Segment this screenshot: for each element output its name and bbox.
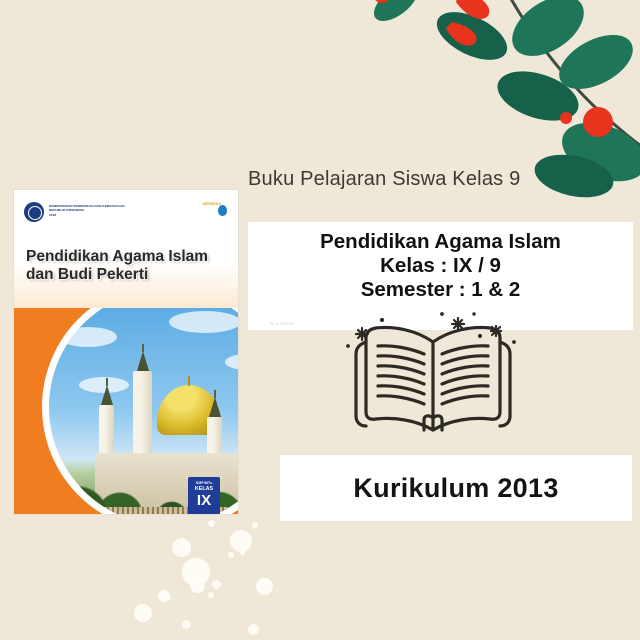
main-info-line-3: Semester : 1 & 2: [361, 278, 521, 302]
cover-title-line-2: dan Budi Pekerti: [26, 266, 228, 284]
curriculum-panel: Kurikulum 2013: [280, 455, 632, 521]
main-info-line-2: Kelas : IX / 9: [380, 254, 501, 278]
open-book-icon: [338, 312, 528, 440]
curriculum-text: Kurikulum 2013: [353, 473, 558, 504]
cover-ministry-header: KEMENTERIAN PENDIDIKAN DAN KEBUDAYAAN RE…: [24, 202, 125, 222]
ministry-text-block: KEMENTERIAN PENDIDIKAN DAN KEBUDAYAAN RE…: [49, 202, 125, 217]
grade-badge: SMP/MTs KELAS IX: [188, 477, 220, 514]
cover-title-line-1: Pendidikan Agama Islam: [26, 248, 228, 266]
kicker-heading: Buku Pelajaran Siswa Kelas 9: [248, 168, 520, 191]
bubbles-decoration: [120, 520, 340, 640]
cover-top-area: KEMENTERIAN PENDIDIKAN DAN KEBUDAYAAN RE…: [14, 190, 238, 308]
branch-stem: [506, 0, 640, 148]
publisher-logo: MERDEKA: [198, 200, 226, 206]
grade-badge-level: SMP/MTs: [188, 481, 220, 485]
ministry-line-3: 2018: [49, 213, 125, 217]
poster-canvas: KEMENTERIAN PENDIDIKAN DAN KEBUDAYAAN RE…: [0, 0, 640, 640]
cover-title: Pendidikan Agama Islam dan Budi Pekerti: [26, 248, 228, 285]
berry-shapes: [373, 0, 613, 137]
textbook-cover-image: KEMENTERIAN PENDIDIKAN DAN KEBUDAYAAN RE…: [14, 190, 238, 514]
cover-artwork-panel: SMP/MTs KELAS IX: [14, 308, 238, 514]
tut-wuri-handayani-logo-icon: [24, 202, 44, 222]
grade-badge-grade: IX: [188, 493, 220, 508]
main-info-line-1: Pendidikan Agama Islam: [320, 230, 561, 254]
panel-watermark: N.A.Kurim: [270, 321, 294, 326]
